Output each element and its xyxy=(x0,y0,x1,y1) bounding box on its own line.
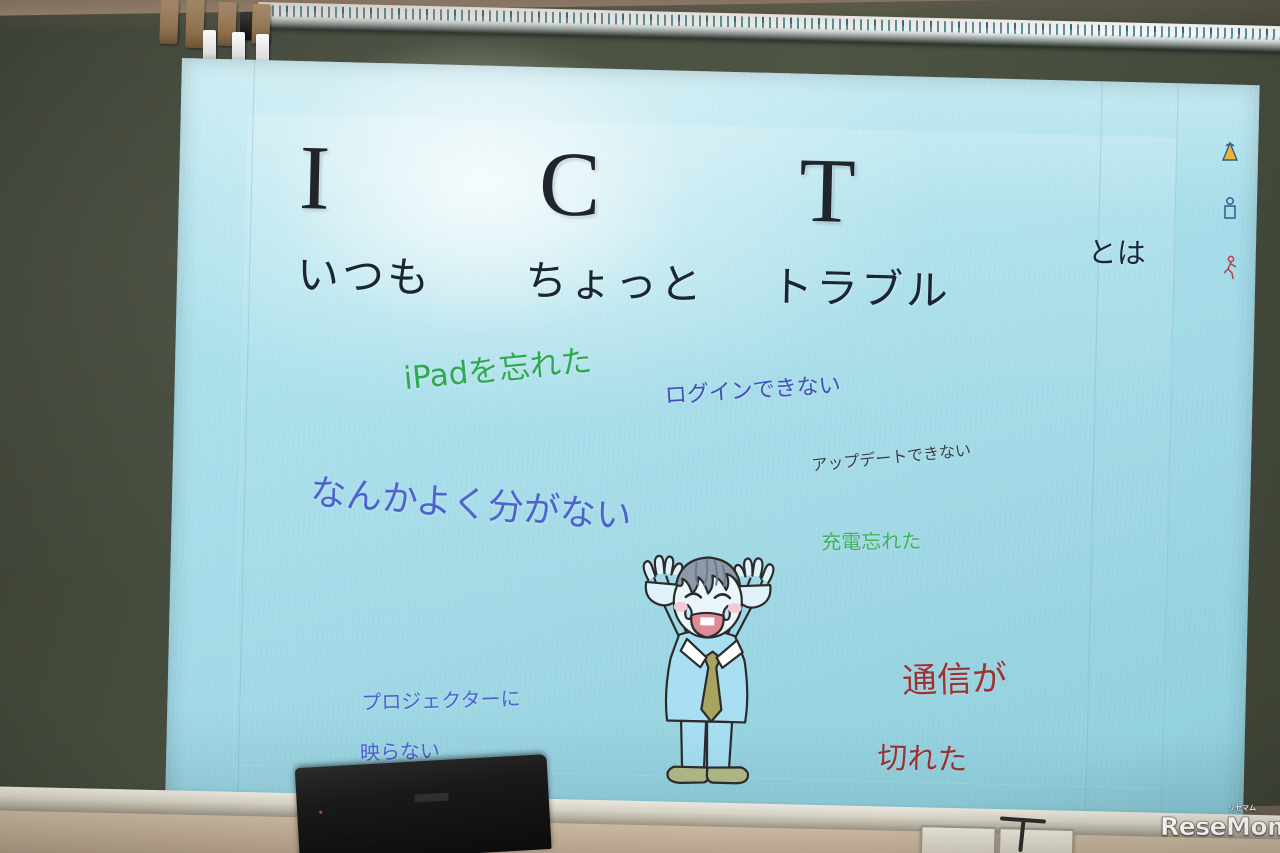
laptop-lid xyxy=(295,754,552,853)
subtitle-word-itsumo: いつも xyxy=(296,241,432,305)
note-dont-understand: なんかよく分がない xyxy=(309,463,634,540)
chalk-eraser xyxy=(919,825,996,853)
laptop-logo xyxy=(414,793,448,803)
sticker-running-person-icon xyxy=(1222,255,1238,281)
laptop-indicator-light xyxy=(319,811,322,814)
screenshot-root: I C T とは いつも ちょっと トラブル iPadを忘れた ログインできない… xyxy=(0,0,1280,853)
resemom-watermark: ReseMom. リセマム xyxy=(1160,812,1280,841)
projector-screen: I C T とは いつも ちょっと トラブル iPadを忘れた ログインできない… xyxy=(165,58,1260,845)
subtitle-word-chotto: ちょっと xyxy=(524,247,705,313)
sticker-person-icon xyxy=(1222,195,1238,221)
watermark-text: ReseMom. xyxy=(1160,812,1280,841)
note-ipad-forgotten: iPadを忘れた xyxy=(401,335,593,398)
title-letter-t: T xyxy=(798,144,856,237)
watermark-ruby-text: リセマム xyxy=(1228,803,1256,813)
board-clip xyxy=(185,0,205,48)
title-letter-c: C xyxy=(538,137,601,231)
note-cannot-update: アップデートできない xyxy=(810,436,972,475)
note-cannot-login: ログインできない xyxy=(664,367,842,410)
subtitle-word-trouble: トラブル xyxy=(770,253,951,319)
board-clip xyxy=(159,0,179,44)
sticker-warning-icon xyxy=(1222,140,1238,166)
note-connection-line1: 通信が xyxy=(901,659,1007,702)
note-projector-line1: プロジェクターに xyxy=(361,686,521,714)
title-letter-i: I xyxy=(298,131,331,224)
chalk-eraser xyxy=(997,827,1074,853)
note-forgot-to-charge: 充電忘れた xyxy=(821,525,921,555)
